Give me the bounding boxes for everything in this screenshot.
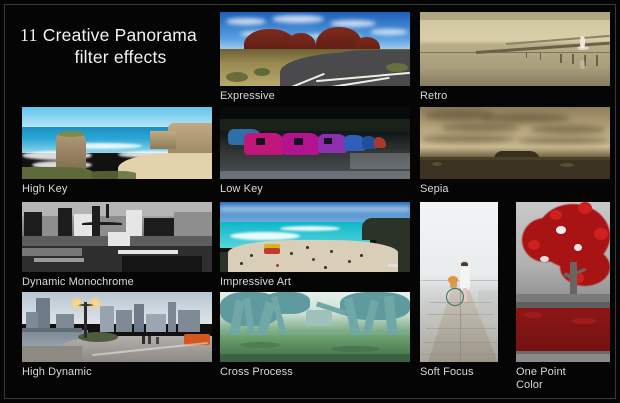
- thumbnail-one-point-color[interactable]: [516, 202, 610, 362]
- thumbnail-soft-focus[interactable]: [420, 202, 498, 362]
- thumbnail-sepia[interactable]: [420, 107, 610, 179]
- tile-high-key[interactable]: High Key: [22, 107, 212, 196]
- title-count: 11: [20, 25, 38, 45]
- thumbnail-impressive-art[interactable]: [220, 202, 410, 272]
- thumbnail-high-dynamic[interactable]: [22, 292, 212, 362]
- tile-low-key[interactable]: Low Key: [220, 107, 410, 196]
- tile-caption-cross-process: Cross Process: [220, 366, 410, 379]
- tile-soft-focus[interactable]: Soft Focus: [420, 202, 498, 379]
- tile-sepia[interactable]: Sepia: [420, 107, 610, 196]
- thumbnail-dynamic-monochrome[interactable]: [22, 202, 212, 272]
- tile-one-point-color[interactable]: One Point Color: [516, 202, 610, 391]
- tile-dynamic-monochrome[interactable]: Dynamic Monochrome: [22, 202, 212, 289]
- tile-caption-retro: Retro: [420, 90, 610, 103]
- thumbnail-retro[interactable]: [420, 12, 610, 86]
- thumbnail-low-key[interactable]: [220, 107, 410, 179]
- tile-caption-expressive: Expressive: [220, 90, 410, 103]
- tile-expressive[interactable]: Expressive: [220, 12, 410, 103]
- title-line-2: filter effects: [20, 46, 205, 68]
- tile-caption-one-point-color: One Point Color: [516, 366, 610, 391]
- slide-canvas: 11 Creative Panorama filter effects: [0, 0, 620, 403]
- tile-cross-process[interactable]: Cross Process: [220, 292, 410, 379]
- thumbnail-expressive[interactable]: [220, 12, 410, 86]
- tile-caption-high-key: High Key: [22, 183, 212, 196]
- tile-retro[interactable]: Retro: [420, 12, 610, 103]
- page-title: 11 Creative Panorama filter effects: [20, 24, 205, 68]
- tile-caption-low-key: Low Key: [220, 183, 410, 196]
- tile-caption-high-dynamic: High Dynamic: [22, 366, 212, 379]
- tile-caption-soft-focus: Soft Focus: [420, 366, 498, 379]
- title-line-1: Creative Panorama: [43, 25, 197, 45]
- thumbnail-cross-process[interactable]: [220, 292, 410, 362]
- tile-caption-impressive-art: Impressive Art: [220, 276, 410, 289]
- tile-caption-sepia: Sepia: [420, 183, 610, 196]
- thumbnail-high-key[interactable]: [22, 107, 212, 179]
- tile-caption-dynamic-monochrome: Dynamic Monochrome: [22, 276, 212, 289]
- tile-impressive-art[interactable]: Impressive Art: [220, 202, 410, 289]
- tile-high-dynamic[interactable]: High Dynamic: [22, 292, 212, 379]
